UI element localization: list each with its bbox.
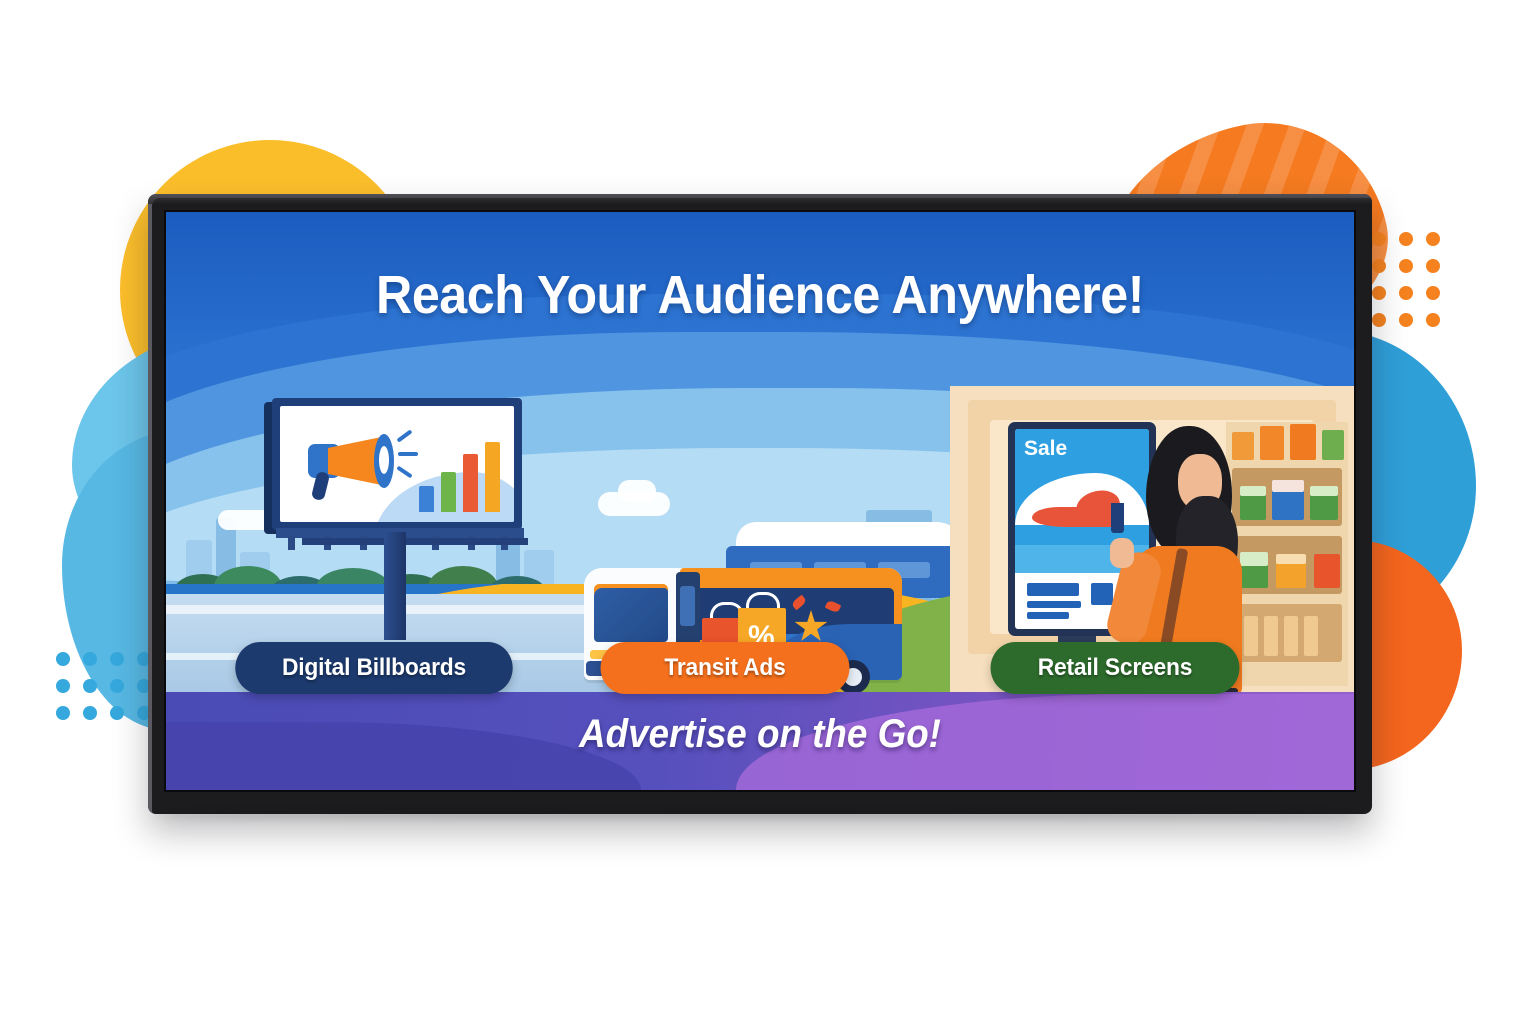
banner-canvas: Reach Your Audience Anywhere! <box>0 0 1536 1024</box>
cloud-icon <box>218 510 278 530</box>
monitor-bezel-highlight <box>148 194 1372 204</box>
bar-chart-graphic <box>419 438 500 512</box>
high-heel-shoe-icon <box>1032 485 1126 533</box>
megaphone-icon <box>306 428 402 502</box>
category-pill-row: Digital Billboards Transit Ads Retail Sc… <box>166 642 1354 698</box>
pill-digital-billboards[interactable]: Digital Billboards <box>235 642 512 694</box>
footer-band: Advertise on the Go! <box>166 692 1354 790</box>
blue-dot-grid <box>56 652 151 720</box>
display-monitor: Reach Your Audience Anywhere! <box>148 194 1372 814</box>
sale-label: Sale <box>1024 437 1067 461</box>
cloud-icon <box>618 480 656 502</box>
pill-retail-screens[interactable]: Retail Screens <box>991 642 1240 694</box>
tagline: Advertise on the Go! <box>214 712 1307 757</box>
monitor-screen: Reach Your Audience Anywhere! <box>164 210 1356 792</box>
digital-billboard <box>272 398 522 530</box>
pill-transit-ads[interactable]: Transit Ads <box>601 642 850 694</box>
page-title: Reach Your Audience Anywhere! <box>208 264 1313 326</box>
